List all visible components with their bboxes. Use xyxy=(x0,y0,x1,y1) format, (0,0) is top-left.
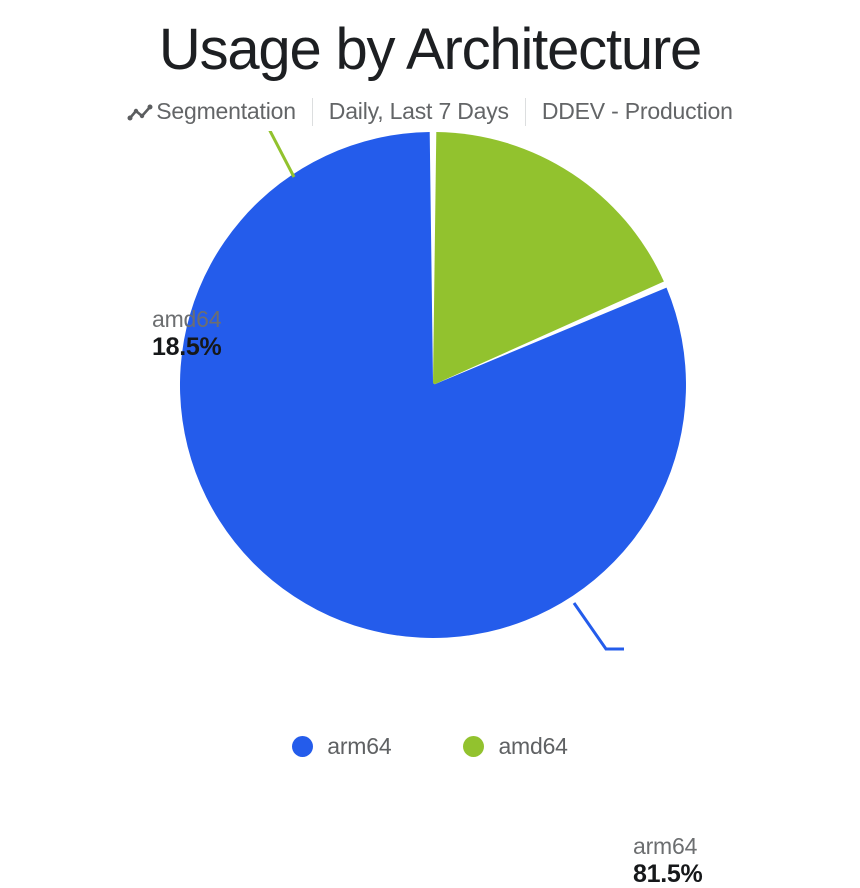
page-title: Usage by Architecture xyxy=(159,18,701,83)
callout-amd64: amd64 18.5% xyxy=(152,307,221,361)
leader-line-amd64 xyxy=(250,131,294,177)
pie-chart-card: Usage by Architecture Segmentation Daily… xyxy=(0,0,860,861)
trend-line-icon xyxy=(127,102,153,122)
callout-amd64-value: 18.5% xyxy=(152,333,221,361)
legend-label-amd64: amd64 xyxy=(498,733,567,760)
legend-swatch-arm64 xyxy=(292,736,313,757)
legend-label-arm64: arm64 xyxy=(327,733,391,760)
callout-arm64-name: arm64 xyxy=(633,834,702,860)
legend-item-arm64[interactable]: arm64 xyxy=(292,733,391,760)
meta-label-segmentation: Segmentation xyxy=(156,98,296,125)
callout-amd64-name: amd64 xyxy=(152,307,221,333)
chart-legend: arm64 amd64 xyxy=(292,733,568,760)
callout-arm64-value: 81.5% xyxy=(633,860,702,888)
meta-item-segmentation[interactable]: Segmentation xyxy=(127,98,312,125)
meta-label-source: DDEV - Production xyxy=(542,98,733,125)
legend-item-amd64[interactable]: amd64 xyxy=(463,733,567,760)
meta-item-timerange[interactable]: Daily, Last 7 Days xyxy=(313,98,525,125)
plot-area: amd64 18.5% arm64 81.5% xyxy=(0,131,860,731)
pie-chart-svg xyxy=(0,131,860,731)
leader-line-arm64 xyxy=(574,603,624,649)
legend-swatch-amd64 xyxy=(463,736,484,757)
meta-label-timerange: Daily, Last 7 Days xyxy=(329,98,509,125)
chart-meta-row: Segmentation Daily, Last 7 Days DDEV - P… xyxy=(127,97,732,127)
meta-item-source[interactable]: DDEV - Production xyxy=(526,98,733,125)
